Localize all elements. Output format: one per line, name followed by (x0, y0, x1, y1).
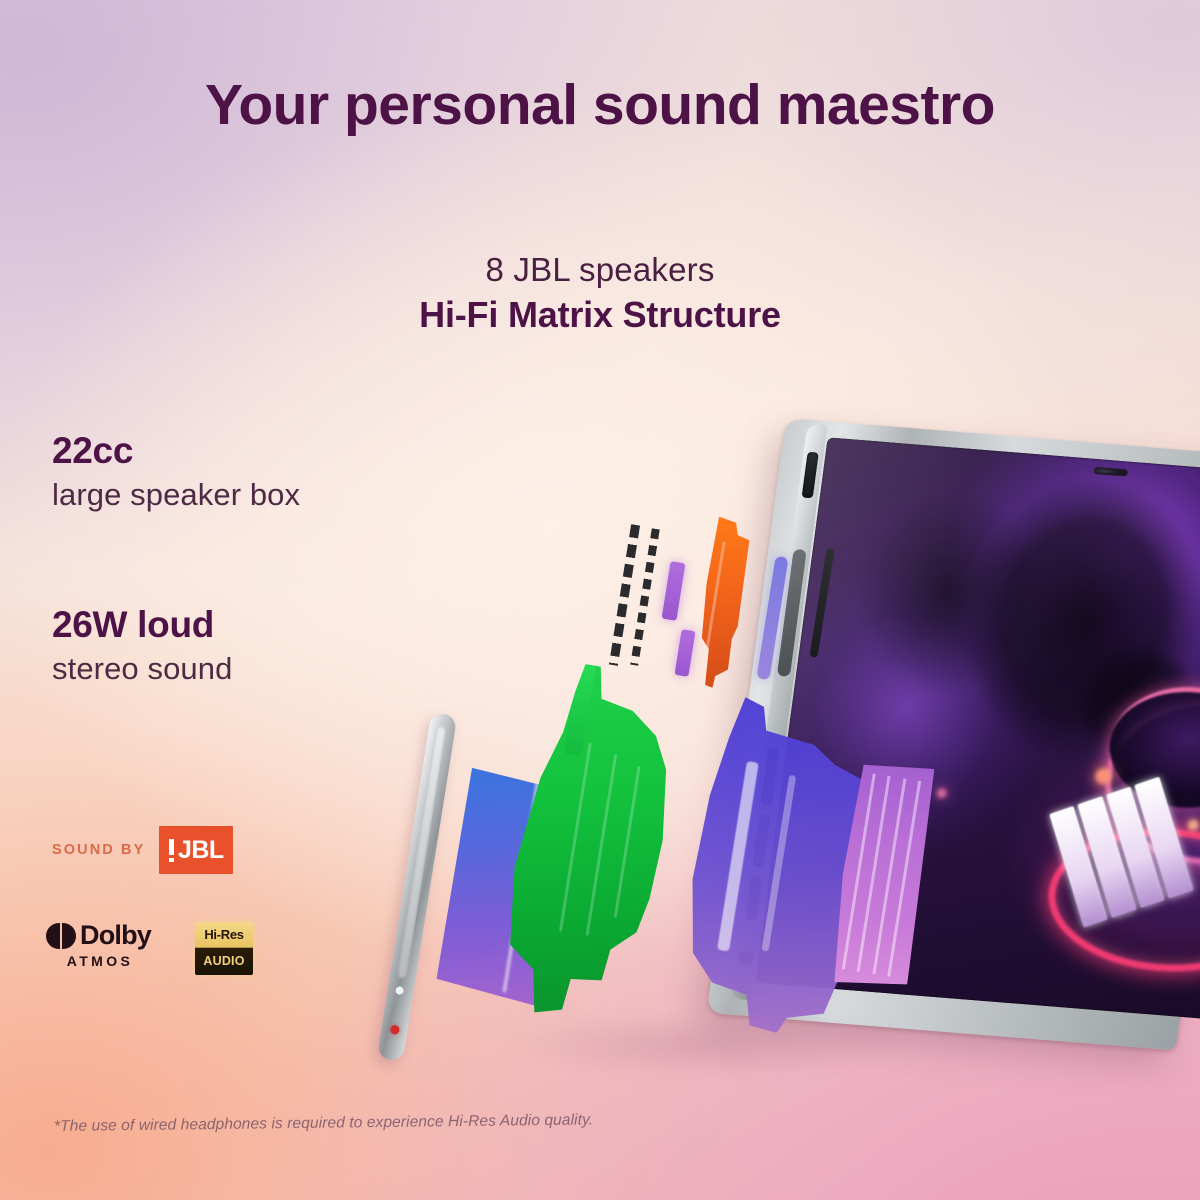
dolby-double-d-icon (46, 923, 76, 949)
stylus-nub (395, 986, 404, 995)
dolby-atmos-logo: Dolby ATMOS (46, 922, 151, 969)
speaker-driver-module-part (474, 655, 719, 1033)
hires-audio-badge: Hi-Res AUDIO (195, 922, 253, 975)
screen-scene-dj (755, 437, 1200, 1024)
subheading-speakers-count: 8 JBL speakers (0, 250, 1200, 290)
jbl-exclamation-icon (169, 839, 174, 862)
driver-tube (564, 649, 598, 756)
speaker-grille-strip-2 (630, 528, 659, 666)
stylus-tip-indicator (390, 1025, 400, 1035)
driver-rib-1 (559, 743, 592, 931)
page-title: Your personal sound maestro (0, 72, 1200, 138)
jbl-wordmark: JBL (178, 838, 224, 863)
amplifier-chip-2 (674, 629, 695, 677)
spec-label-power: stereo sound (52, 649, 232, 689)
dolby-logo-row: Dolby (46, 922, 151, 949)
audio-certification-badges: Dolby ATMOS Hi-Res AUDIO (46, 922, 253, 975)
tablet-device (707, 418, 1200, 1050)
speaker-grille-strip-icon (609, 524, 640, 666)
spec-speaker-box: 22cc large speaker box (52, 430, 300, 516)
jbl-logo-box: JBL (159, 826, 233, 874)
rear-plate-part (435, 763, 578, 1007)
stylus-pen (377, 712, 457, 1062)
hires-badge-bottom-text: AUDIO (195, 947, 253, 975)
driver-rib-3 (613, 765, 640, 918)
dolby-atmos-subtext: ATMOS (67, 953, 134, 969)
dolby-wordmark: Dolby (80, 922, 151, 949)
jbl-sound-by-text: SOUND BY (52, 842, 145, 858)
hires-badge-top-text: Hi-Res (195, 922, 253, 947)
promo-stage: Your personal sound maestro 8 JBL speake… (0, 0, 1200, 1200)
tablet-screen (755, 437, 1200, 1024)
amplifier-chip-1 (662, 561, 686, 621)
footnote-disclaimer: *The use of wired headphones is required… (54, 1111, 593, 1136)
subheading-structure: Hi-Fi Matrix Structure (0, 293, 1200, 338)
spec-power-output: 26W loud stereo sound (52, 604, 232, 690)
tablet-body (707, 418, 1200, 1050)
spec-value-volume: 22cc (52, 430, 300, 471)
spec-value-power: 26W loud (52, 604, 232, 645)
subheading-block: 8 JBL speakers Hi-Fi Matrix Structure (0, 250, 1200, 338)
jbl-logo: SOUND BY JBL (52, 826, 233, 874)
driver-rib-2 (585, 754, 617, 935)
audio-amplifier-part (684, 515, 758, 690)
stylus-slot (397, 725, 447, 979)
spec-label-volume: large speaker box (52, 475, 300, 515)
